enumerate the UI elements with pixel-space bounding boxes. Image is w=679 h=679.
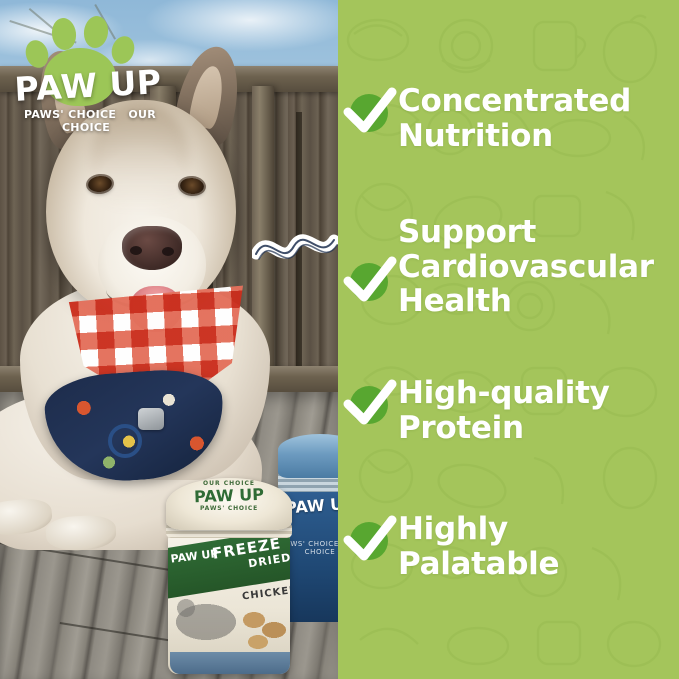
harness-tag [138,408,164,430]
check-circle-icon [342,253,398,309]
jar-lid: OUR CHOICE PAW UP PAWS' CHOICE [166,478,292,530]
jar-footer-band [170,652,290,674]
jar-flavor-text: CHICKEN [242,585,290,603]
benefits-list: Concentrated Nutrition Support Cardiovas… [338,0,679,679]
jar-lid [278,434,338,478]
benefits-panel: Concentrated Nutrition Support Cardiovas… [338,0,679,679]
check-circle-icon [342,512,398,568]
benefit-label-3: High-quality Protein [398,374,679,445]
check-circle-icon [342,84,398,140]
paw-toe-pad [82,15,110,50]
dog-nostril [162,247,174,256]
paw-toe-pad [108,33,138,66]
logo-wordmark: PAW UP [7,62,169,109]
wave-squiggle-icon [252,224,338,270]
benefit-item-1: Concentrated Nutrition [342,82,679,153]
benefit-item-2: Support Cardiovascular Health [342,213,679,319]
logo-tagline: PAWS' CHOICE OUR CHOICE [8,108,168,134]
logo-tagline-left: PAWS' CHOICE [24,108,116,121]
benefit-item-3: High-quality Protein [342,374,679,445]
treat-pieces-illustration [240,608,290,654]
lid-brand-text: PAW UP [182,486,277,505]
product-photo-panel: PAW UP PAWS' CHOICE OUR CHOICE PAW UP PA… [0,0,338,679]
harness-ring [108,424,142,458]
benefit-label-4: Highly Palatable [398,510,679,581]
brand-logo: PAW UP PAWS' CHOICE OUR CHOICE [8,8,168,136]
product-feature-graphic: PAW UP PAWS' CHOICE OUR CHOICE PAW UP PA… [0,0,679,679]
benefit-label-1: Concentrated Nutrition [398,82,679,153]
benefit-item-4: Highly Palatable [342,510,679,581]
check-circle-icon [342,376,398,432]
product-jar-front: PAW UP FREEZE DRIED CHICKEN 2.2 oz (63 g… [166,478,292,679]
dog-nostril [130,246,142,255]
jar-lid-artwork: OUR CHOICE PAW UP PAWS' CHOICE [182,480,276,512]
jar-body: PAW UP FREEZE DRIED CHICKEN 2.2 oz (63 g… [168,534,290,674]
benefit-label-2: Support Cardiovascular Health [398,213,679,319]
paw-toe-pad [50,17,78,52]
